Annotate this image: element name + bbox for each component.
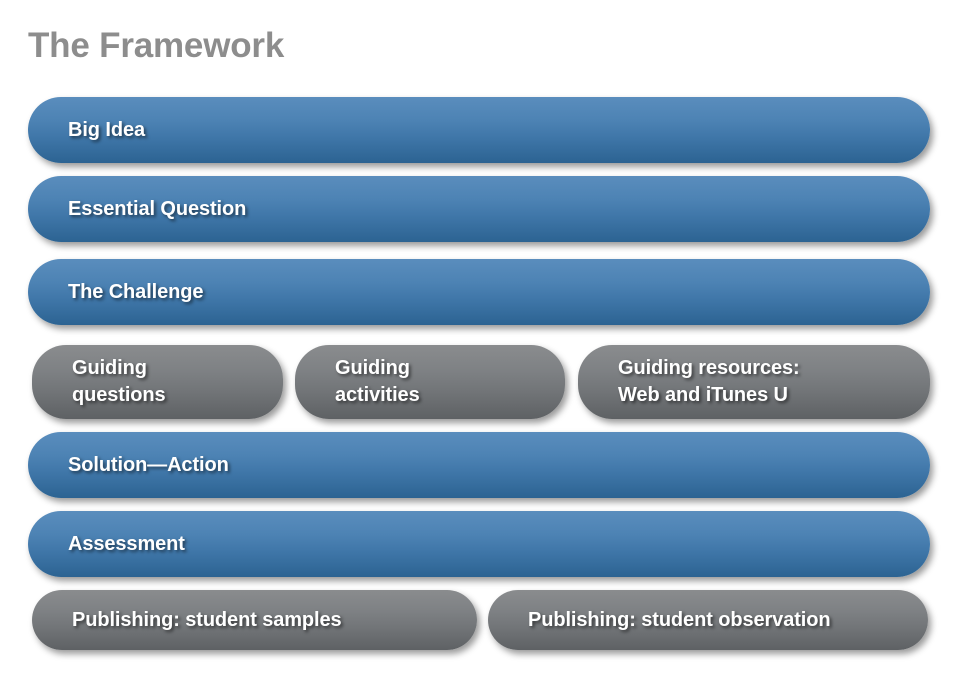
bar-publishing-student-observation[interactable]: Publishing: student observation [488,590,928,650]
bar-solution-action[interactable]: Solution—Action [28,432,930,498]
framework-slide: The Framework Big Idea Essential Questio… [0,0,966,696]
bar-the-challenge-label: The Challenge [28,279,221,305]
bar-the-challenge[interactable]: The Challenge [28,259,930,325]
page-title: The Framework [28,24,284,68]
bar-solution-action-label: Solution—Action [28,452,247,478]
bar-assessment-label: Assessment [28,531,203,557]
bar-essential-question-label: Essential Question [28,196,264,222]
bar-assessment[interactable]: Assessment [28,511,930,577]
bar-publishing-student-samples[interactable]: Publishing: student samples [32,590,477,650]
bar-publishing-student-observation-label: Publishing: student observation [488,607,848,633]
bar-essential-question[interactable]: Essential Question [28,176,930,242]
bar-big-idea-label: Big Idea [28,117,163,143]
bar-guiding-activities-label: Guiding activities [295,355,438,409]
bar-guiding-resources-label: Guiding resources: Web and iTunes U [578,355,818,409]
bar-guiding-questions-label: Guiding questions [32,355,184,409]
bar-guiding-questions[interactable]: Guiding questions [32,345,283,419]
bar-big-idea[interactable]: Big Idea [28,97,930,163]
bar-guiding-activities[interactable]: Guiding activities [295,345,565,419]
bar-guiding-resources[interactable]: Guiding resources: Web and iTunes U [578,345,930,419]
bar-publishing-student-samples-label: Publishing: student samples [32,607,360,633]
